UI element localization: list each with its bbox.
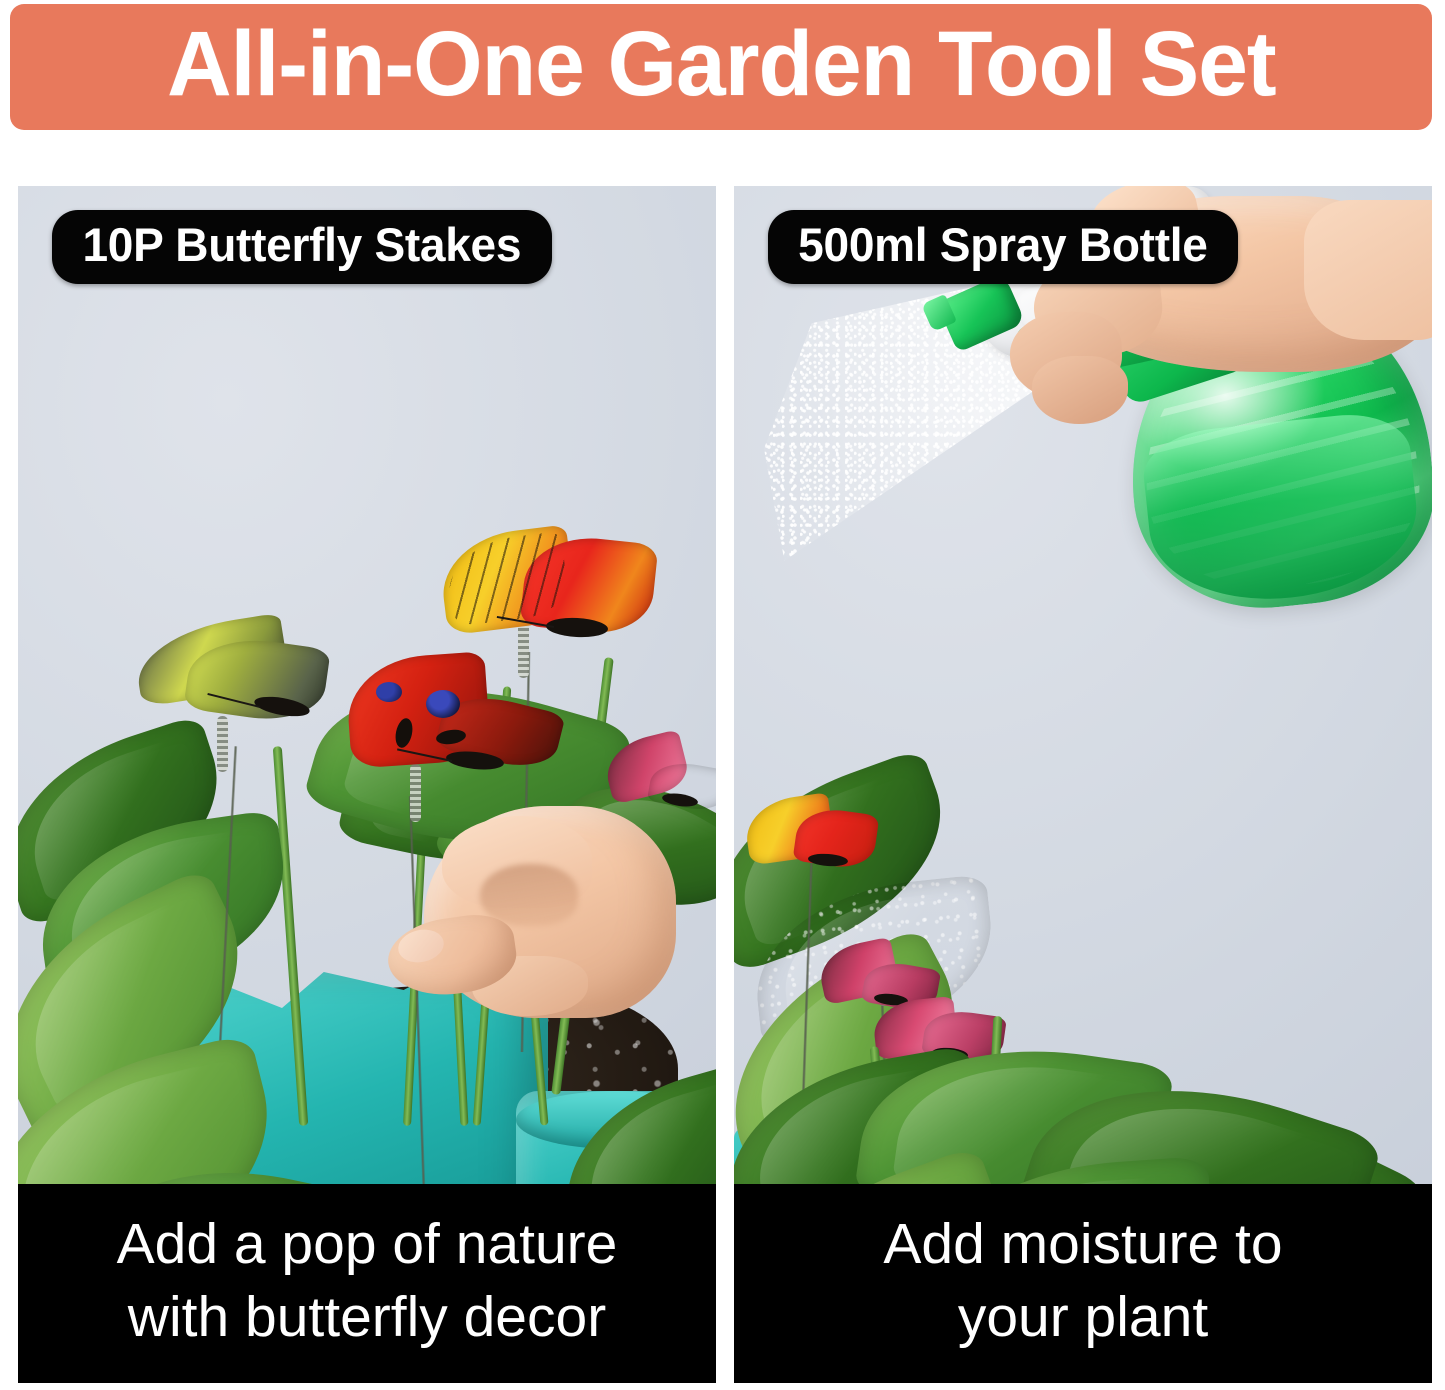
butterfly-eyespot bbox=[426, 690, 460, 718]
panel-butterfly-stakes: 10P Butterfly Stakes Add a pop of nature… bbox=[18, 186, 716, 1383]
photo-scene-spray-bottle: 500ml Spray Bottle Add moisture to your … bbox=[734, 186, 1432, 1383]
product-infographic: All-in-One Garden Tool Set bbox=[0, 0, 1445, 1390]
red-peacock-butterfly bbox=[348, 656, 563, 791]
panel-badge-butterfly-stakes: 10P Butterfly Stakes bbox=[52, 210, 552, 284]
butterfly-eyespot bbox=[376, 682, 402, 702]
caption-bar-spray-bottle: Add moisture to your plant bbox=[734, 1184, 1432, 1383]
caption-line-1: Add moisture to bbox=[883, 1208, 1282, 1280]
caption-line-2: with butterfly decor bbox=[128, 1281, 606, 1353]
hand-finger bbox=[1032, 356, 1128, 424]
panel-badge-spray-bottle: 500ml Spray Bottle bbox=[768, 210, 1238, 284]
wrist bbox=[1304, 200, 1432, 340]
header-banner: All-in-One Garden Tool Set bbox=[10, 4, 1432, 130]
yellow-red-butterfly bbox=[442, 532, 654, 652]
page-title: All-in-One Garden Tool Set bbox=[167, 18, 1275, 116]
hand-finger-gap bbox=[480, 864, 578, 926]
photo-scene-butterfly-stakes: 10P Butterfly Stakes Add a pop of nature… bbox=[18, 186, 716, 1383]
panel-row: 10P Butterfly Stakes Add a pop of nature… bbox=[18, 186, 1432, 1383]
caption-line-1: Add a pop of nature bbox=[117, 1208, 618, 1280]
yellow-red-butterfly bbox=[746, 798, 876, 882]
yellow-green-butterfly bbox=[136, 624, 336, 749]
caption-bar-butterfly-stakes: Add a pop of nature with butterfly decor bbox=[18, 1184, 716, 1383]
hand-holding-stake bbox=[384, 780, 684, 1038]
panel-spray-bottle: 500ml Spray Bottle Add moisture to your … bbox=[734, 186, 1432, 1383]
caption-line-2: your plant bbox=[958, 1281, 1208, 1353]
badge-label: 10P Butterfly Stakes bbox=[82, 221, 521, 269]
badge-label: 500ml Spray Bottle bbox=[798, 221, 1207, 269]
